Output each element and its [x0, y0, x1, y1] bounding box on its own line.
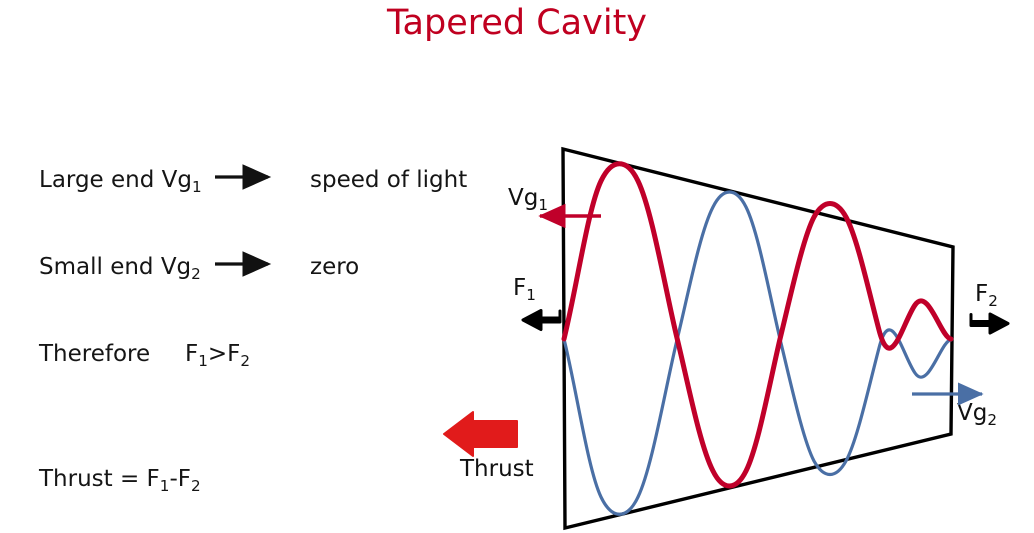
slide-canvas: Tapered Cavity Large end Vg1 speed of li…	[0, 0, 1034, 533]
f1-arrow-left	[523, 311, 560, 330]
thrust-arrow-left	[444, 412, 517, 456]
cavity-outline	[563, 149, 953, 528]
red-wave	[564, 164, 951, 486]
f2-arrow-right	[971, 314, 1008, 333]
blue-wave	[564, 192, 951, 514]
tapered-cavity-diagram	[0, 0, 1034, 533]
